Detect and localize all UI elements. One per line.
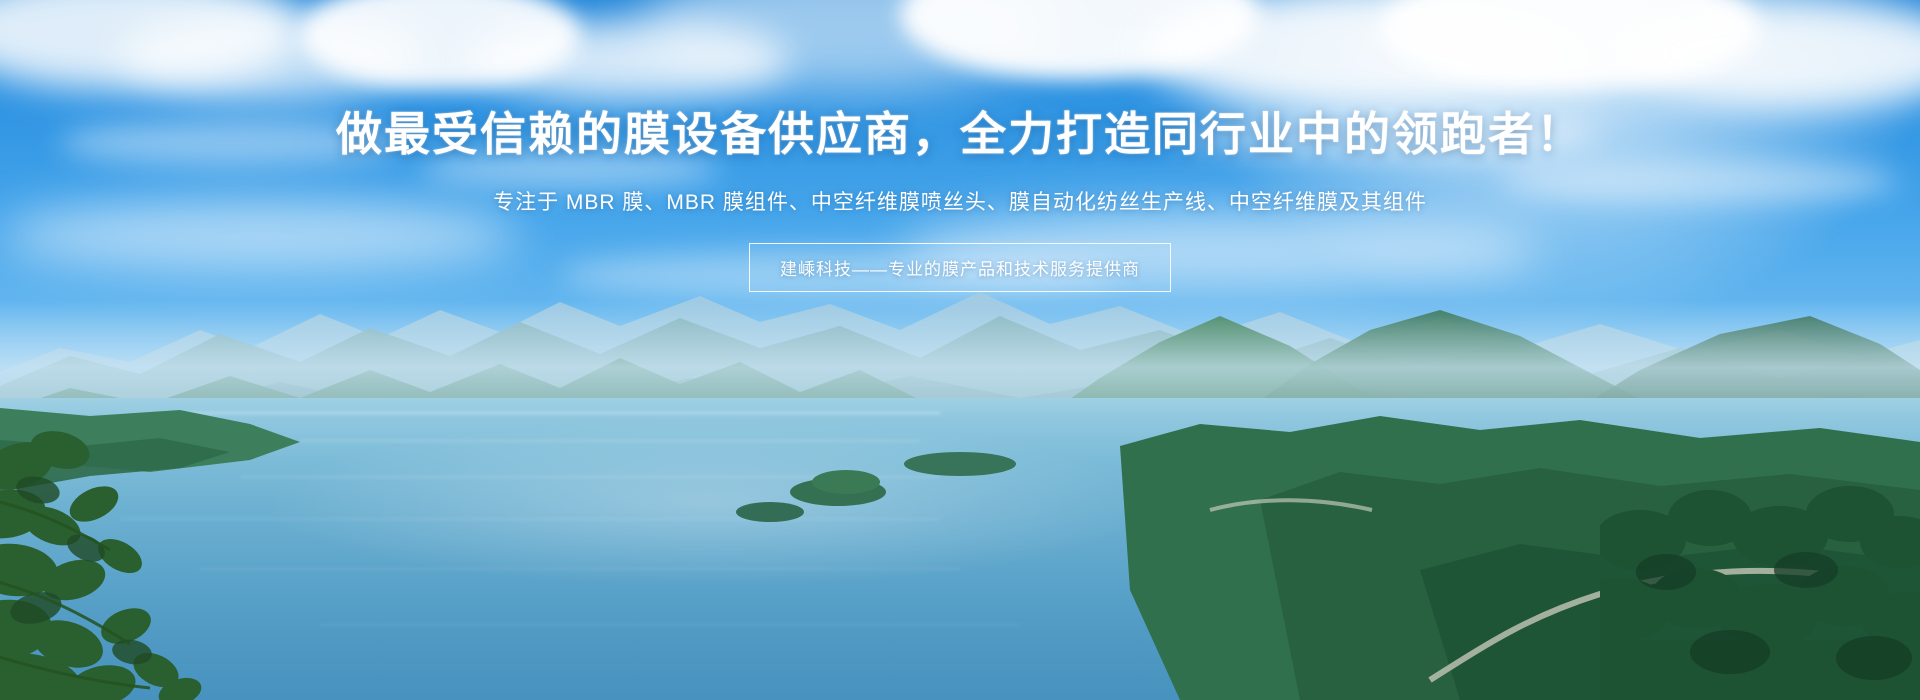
banner-headline: 做最受信赖的膜设备供应商，全力打造同行业中的领跑者！ [0,98,1920,164]
banner-subheadline: 专注于 MBR 膜、MBR 膜组件、中空纤维膜喷丝头、膜自动化纺丝生产线、中空纤… [0,186,1920,216]
banner-tagline-box: 建嵊科技——专业的膜产品和技术服务提供商 [749,243,1171,292]
banner-tagline-wrapper: 建嵊科技——专业的膜产品和技术服务提供商 [0,243,1920,292]
hero-banner: 做最受信赖的膜设备供应商，全力打造同行业中的领跑者！ 专注于 MBR 膜、MBR… [0,0,1920,700]
banner-text-overlay: 做最受信赖的膜设备供应商，全力打造同行业中的领跑者！ 专注于 MBR 膜、MBR… [0,0,1920,700]
